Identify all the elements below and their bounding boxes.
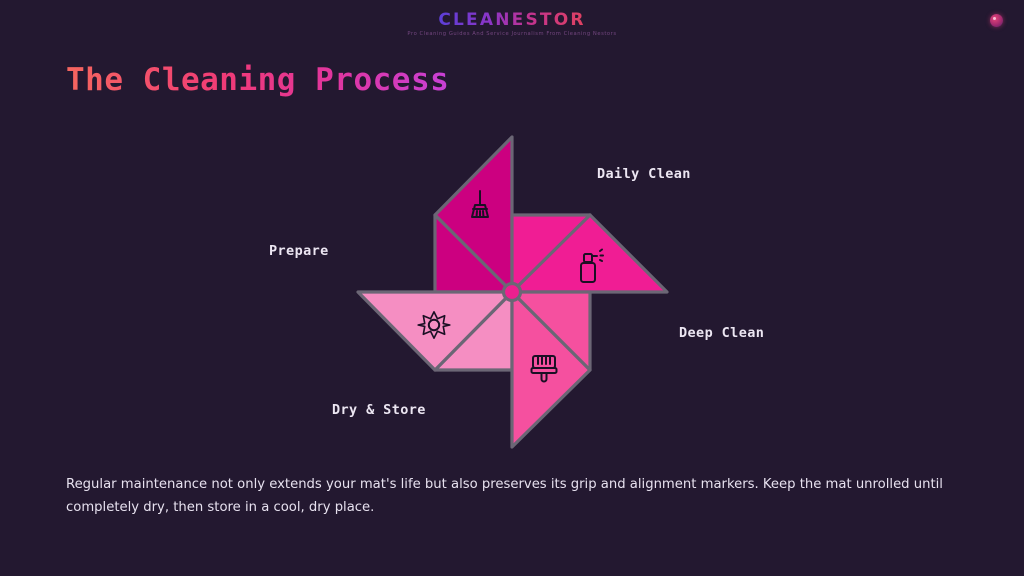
stage-label-deep-clean: Deep Clean <box>679 325 764 341</box>
brand-wordmark: CLEANESTOR <box>438 12 585 29</box>
logo-orb-icon <box>990 14 1003 27</box>
stage-label-daily-clean: Daily Clean <box>597 166 691 182</box>
stage-label-dry-store: Dry & Store <box>332 402 426 418</box>
stage-label-prepare: Prepare <box>269 243 329 259</box>
page-title: The Cleaning Process <box>66 62 449 98</box>
brand-tagline: Pro Cleaning Guides And Service Journali… <box>0 32 1024 37</box>
blade-prepare[interactable] <box>512 292 590 447</box>
footer-note: Regular maintenance not only extends you… <box>66 473 956 519</box>
brand-logo: CLEANESTOR Pro Cleaning Guides And Servi… <box>0 12 1024 37</box>
pinwheel-hub[interactable] <box>504 284 521 301</box>
